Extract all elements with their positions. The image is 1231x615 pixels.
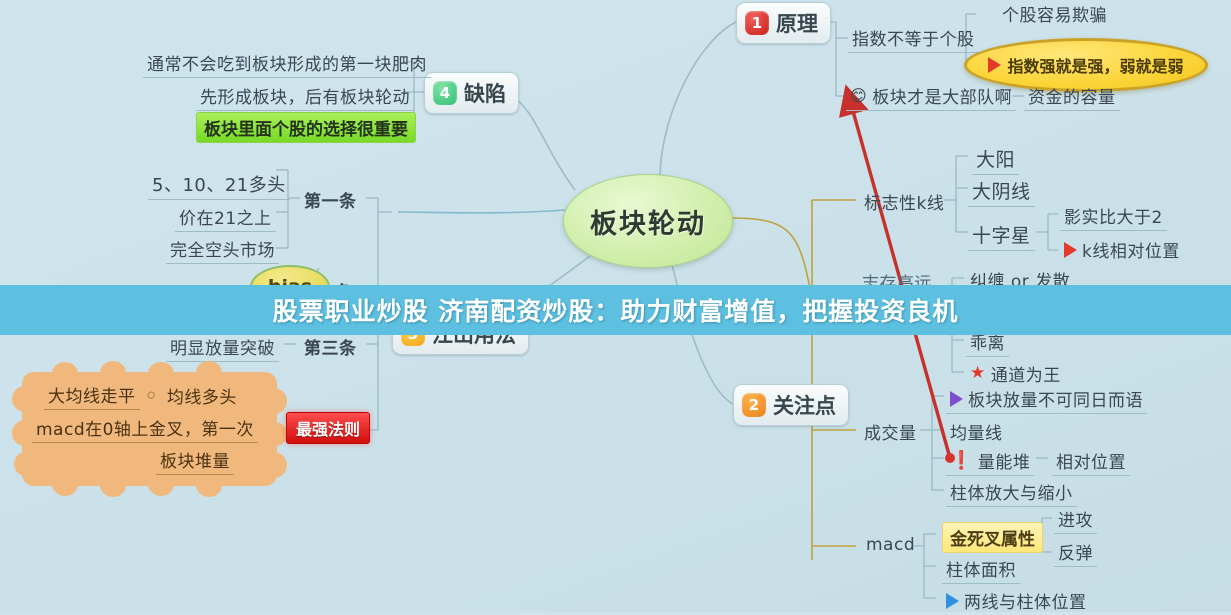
kline-cross-child-0[interactable]: 影实比大于2: [1060, 202, 1167, 231]
play-triangle-blue-icon: [946, 593, 959, 609]
kline-item-0[interactable]: 大阳: [972, 144, 1019, 175]
rule1-item-0[interactable]: 5、10、21多头: [148, 170, 290, 200]
badge-number-1: 1: [745, 11, 769, 35]
volume-item-2[interactable]: ❗ 量能堆: [946, 447, 1034, 476]
promo-banner: 股票职业炒股 济南配资炒股：助力财富增值，把握投资良机: [0, 285, 1231, 335]
defect-item-0[interactable]: 通常不会吃到板块形成的第一块肥肉: [143, 49, 431, 78]
macd-item-1[interactable]: 柱体面积: [942, 555, 1020, 584]
cloud-item-0[interactable]: 大均线走平 ⚪ 均线多头: [44, 381, 241, 410]
play-triangle-icon: [1064, 242, 1077, 258]
play-triangle-icon: [988, 57, 1001, 73]
branch-focus[interactable]: 2 关注点: [733, 384, 849, 426]
principle-item-sector[interactable]: 😊 板块才是大部队啊: [846, 82, 1016, 111]
principle-item-index-child-0[interactable]: 个股容易欺骗: [998, 0, 1111, 28]
smiley-icon: 😊: [850, 88, 867, 104]
rule3-label[interactable]: 第三条: [300, 333, 361, 361]
principle-item-index[interactable]: 指数不等于个股: [848, 24, 979, 53]
rule1-item-1[interactable]: 价在21之上: [175, 203, 276, 232]
volume-label[interactable]: 成交量: [860, 418, 921, 446]
volume-item-0[interactable]: 板块放量不可同日而语: [946, 385, 1147, 414]
defect-item-2[interactable]: 板块里面个股的选择很重要: [196, 112, 416, 143]
kline-label[interactable]: 标志性k线: [860, 188, 948, 216]
macd-item-0-child-1[interactable]: 反弹: [1054, 538, 1097, 567]
macd-label[interactable]: macd: [862, 534, 919, 557]
volume-item-0-label: 板块放量不可同日而语: [968, 386, 1143, 411]
cloud-item-2[interactable]: 板块堆量: [156, 446, 234, 475]
principle-item-sector-child-0[interactable]: 资金的容量: [1024, 82, 1120, 111]
volume-item-2-label: 量能堆: [978, 448, 1031, 473]
branch-principle-title: 原理: [776, 8, 818, 38]
mindmap-canvas: 板块轮动 4 缺陷 通常不会吃到板块形成的第一块肥肉 先形成板块，后有板块轮动 …: [0, 0, 1231, 612]
kline-item-1[interactable]: 大阴线: [968, 176, 1035, 207]
macd-item-0-child-0[interactable]: 进攻: [1054, 505, 1097, 534]
ma-item-3-label: 通道为王: [991, 361, 1061, 386]
central-node-label: 板块轮动: [590, 202, 706, 241]
badge-number-2: 2: [742, 393, 766, 417]
volume-item-1[interactable]: 均量线: [946, 418, 1007, 446]
branch-defect[interactable]: 4 缺陷: [424, 72, 519, 114]
defect-item-1[interactable]: 先形成板块，后有板块轮动: [196, 82, 414, 111]
strongest-rule-badge[interactable]: 最强法则: [286, 412, 370, 444]
central-node[interactable]: 板块轮动: [563, 174, 733, 268]
principle-item-index-child-1-label: 指数强就是强，弱就是弱: [1007, 53, 1183, 77]
rule1-label[interactable]: 第一条: [300, 186, 361, 214]
ma-item-3[interactable]: ★ 通道为王: [966, 360, 1065, 388]
rule1-item-2[interactable]: 完全空头市场: [166, 235, 279, 264]
cloud-item-0-child: 均线多头: [163, 382, 241, 410]
cloud-item-1[interactable]: macd在0轴上金叉，第一次: [32, 414, 258, 443]
macd-item-0[interactable]: 金死叉属性: [942, 522, 1043, 553]
kline-item-cross[interactable]: 十字星: [968, 220, 1035, 251]
promo-banner-text: 股票职业炒股 济南配资炒股：助力财富增值，把握投资良机: [273, 292, 959, 328]
kline-cross-child-1-label: k线相对位置: [1082, 237, 1180, 262]
macd-item-2-label: 两线与柱体位置: [964, 588, 1087, 613]
cloud-item-0-label: 大均线走平: [44, 381, 140, 410]
badge-number-4: 4: [433, 81, 457, 105]
branch-defect-title: 缺陷: [464, 78, 506, 108]
rule3-item-0[interactable]: 明显放量突破: [166, 333, 279, 362]
branch-principle[interactable]: 1 原理: [736, 2, 831, 44]
volume-item-3[interactable]: 柱体放大与缩小: [946, 478, 1077, 507]
volume-item-2-child[interactable]: 相对位置: [1052, 447, 1130, 476]
macd-item-2[interactable]: 两线与柱体位置: [942, 587, 1091, 615]
branch-focus-title: 关注点: [773, 390, 836, 420]
principle-item-sector-label: 板块才是大部队啊: [872, 83, 1012, 108]
exclamation-icon: ❗: [950, 452, 973, 470]
play-triangle-purple-icon: [950, 391, 963, 407]
star-red-icon: ★: [970, 365, 986, 382]
kline-cross-child-1[interactable]: k线相对位置: [1060, 236, 1184, 264]
